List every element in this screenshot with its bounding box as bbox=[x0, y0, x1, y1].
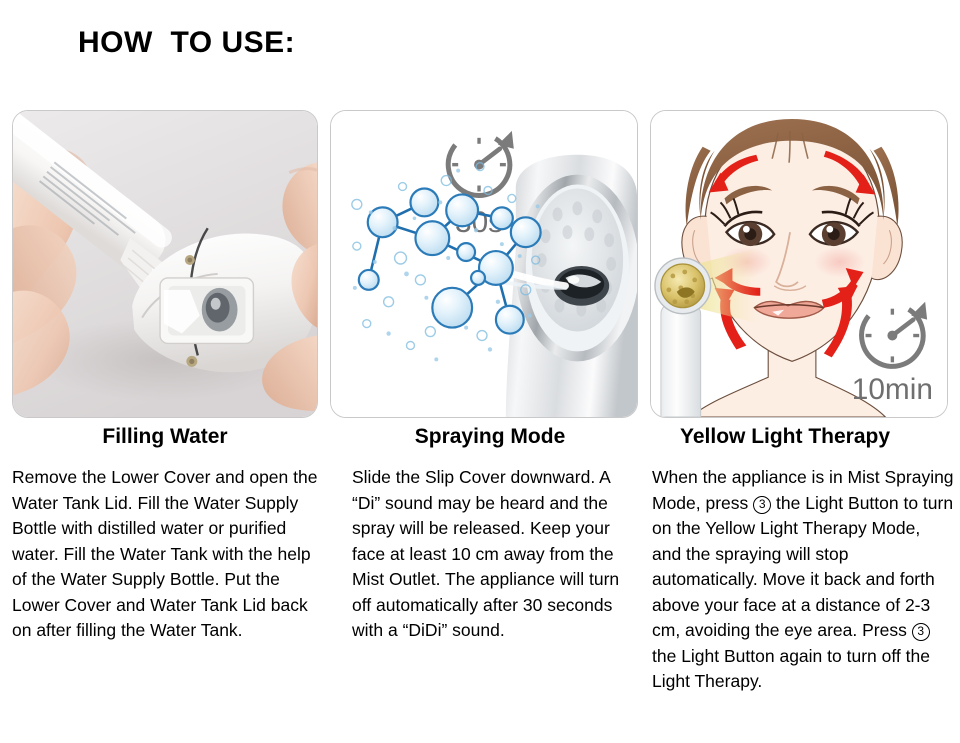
yellow-light-therapy-illustration: 10min bbox=[651, 111, 947, 417]
caption-filling-water: Filling Water Remove the Lower Cover and… bbox=[6, 424, 324, 644]
panel-spraying-mode: 30s bbox=[330, 110, 638, 418]
timer-10min-label: 10min bbox=[852, 373, 933, 406]
light-button-number-icon: 3 bbox=[753, 496, 771, 514]
caption-heading-yellow-light-therapy: Yellow Light Therapy bbox=[680, 424, 954, 450]
panel-filling-water bbox=[12, 110, 318, 418]
caption-heading-spraying-mode: Spraying Mode bbox=[340, 424, 640, 450]
caption-heading-filling-water: Filling Water bbox=[6, 424, 324, 450]
caption-body-part-2: the Light Button to turn on the Yellow L… bbox=[652, 493, 953, 641]
filling-water-photo bbox=[13, 111, 317, 417]
caption-body-part-3: the Light Button again to turn off the L… bbox=[652, 646, 930, 692]
panel-yellow-light-therapy: 10min bbox=[650, 110, 948, 418]
spraying-mode-illustration: 30s bbox=[331, 111, 637, 417]
caption-body-spraying-mode: Slide the Slip Cover downward. A “Di” so… bbox=[352, 465, 640, 644]
caption-spraying-mode: Spraying Mode Slide the Slip Cover downw… bbox=[340, 424, 640, 644]
light-button-number-icon-2: 3 bbox=[912, 623, 930, 641]
caption-yellow-light-therapy: Yellow Light Therapy When the appliance … bbox=[650, 424, 954, 695]
caption-body-filling-water: Remove the Lower Cover and open the Wate… bbox=[12, 465, 324, 644]
caption-body-yellow-light-therapy: When the appliance is in Mist Spraying M… bbox=[652, 465, 954, 695]
panels-row: 30s bbox=[0, 110, 960, 420]
page-title: HOW TO USE: bbox=[78, 26, 295, 60]
mist-outlet-device bbox=[498, 155, 637, 417]
